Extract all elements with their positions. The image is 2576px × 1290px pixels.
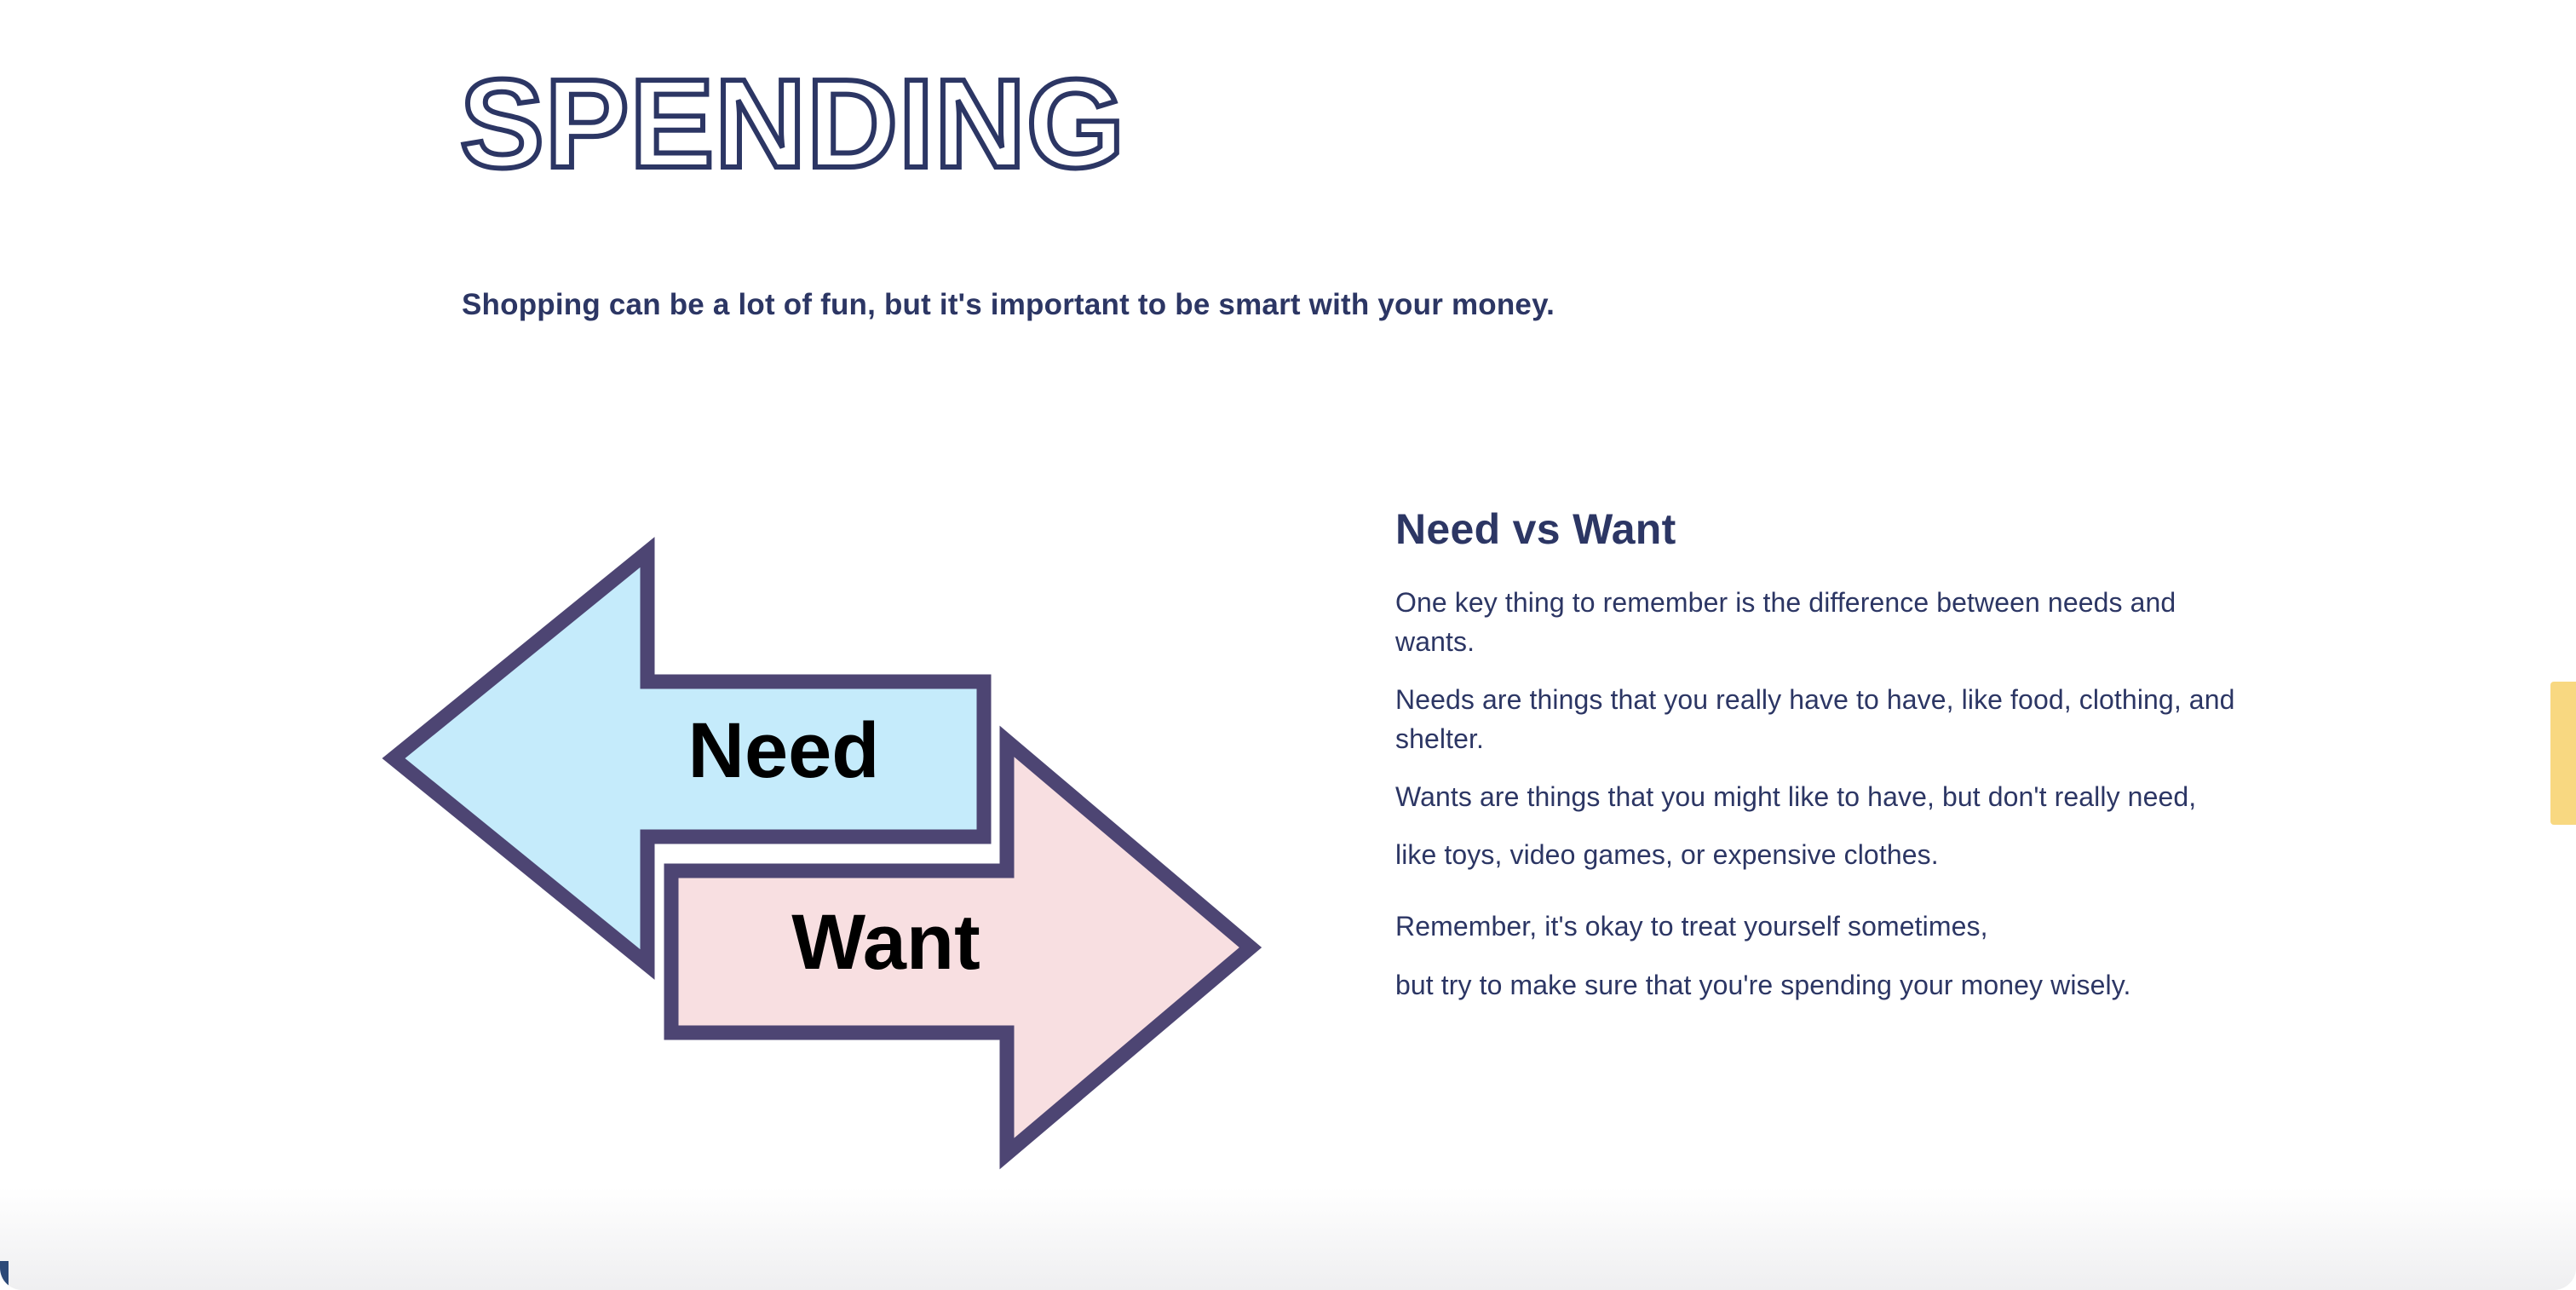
body-paragraph-5: Remember, it's okay to treat yourself so… — [1395, 907, 2256, 946]
section-heading: Need vs Want — [1395, 504, 2256, 554]
page-subtitle: Shopping can be a lot of fun, but it's i… — [462, 288, 1555, 322]
body-paragraph-2: Needs are things that you really have to… — [1395, 680, 2256, 758]
body-paragraph-4: like toys, video games, or expensive clo… — [1395, 835, 2256, 874]
content-column: Need vs Want One key thing to remember i… — [1395, 504, 2256, 1023]
need-arrow-label: Need — [688, 707, 880, 794]
want-arrow-label: Want — [791, 899, 980, 986]
bottom-shade — [0, 1188, 2576, 1290]
page-title: SPENDING — [460, 61, 1125, 187]
body-paragraph-3: Wants are things that you might like to … — [1395, 777, 2256, 816]
body-paragraph-6: but try to make sure that you're spendin… — [1395, 965, 2256, 1005]
arrows-diagram: Need Want — [358, 521, 1312, 1203]
corner-accent — [0, 1261, 9, 1290]
title-block: SPENDING — [460, 61, 1125, 187]
body-paragraph-1: One key thing to remember is the differe… — [1395, 583, 2256, 661]
side-tab[interactable] — [2550, 682, 2576, 825]
need-vs-want-arrows-figure: Need Want — [358, 521, 1312, 1203]
page-surface: SPENDING Shopping can be a lot of fun, b… — [0, 0, 2576, 1290]
